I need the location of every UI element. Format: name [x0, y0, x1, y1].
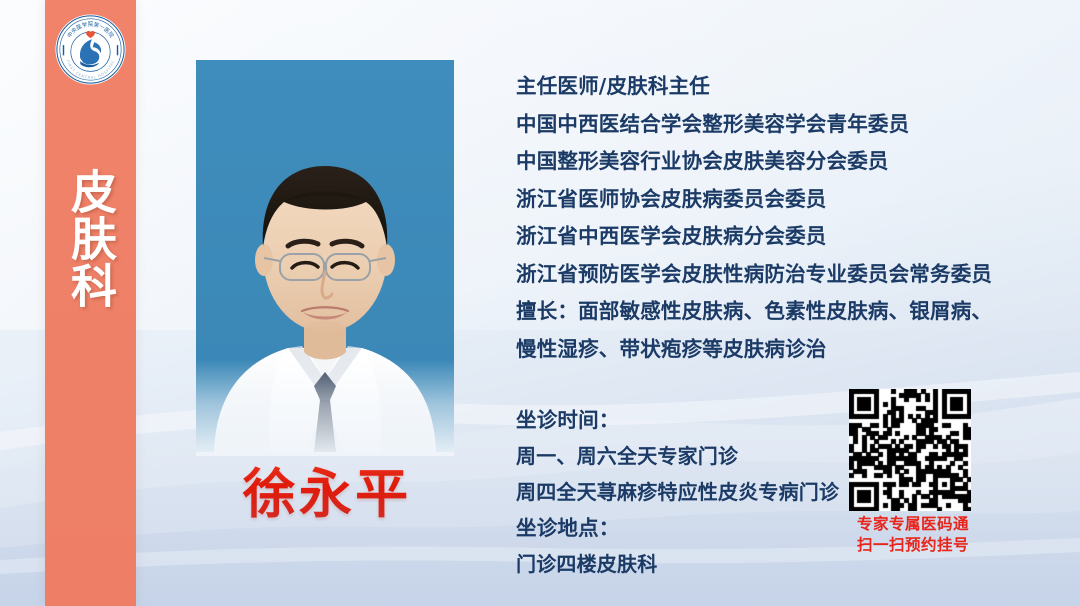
qr-caption: 专家专属医码通 扫一扫预约挂号: [843, 514, 983, 556]
department-name: 皮肤科: [53, 168, 128, 309]
credential-line: 浙江省中西医学会皮肤病分会委员: [516, 218, 1046, 256]
credential-line: 浙江省预防医学会皮肤性病防治专业委员会常务委员: [516, 256, 1046, 294]
qr-caption-line-2: 扫一扫预约挂号: [843, 535, 983, 556]
qr-caption-line-1: 专家专属医码通: [843, 514, 983, 535]
department-banner-title: 皮肤科: [45, 168, 136, 408]
specialty-line: 慢性湿疹、带状疱疹等皮肤病诊治: [516, 331, 1046, 369]
doctor-profile-poster: 皮肤科 中央医学院第一医院 FIRST CENTRAL HOSPITAL: [0, 0, 1080, 606]
appointment-qr-code[interactable]: [849, 389, 971, 511]
specialty-line: 擅长：面部敏感性皮肤病、色素性皮肤病、银屑病、: [516, 293, 1046, 331]
doctor-name: 徐永平: [196, 452, 458, 528]
credential-line: 主任医师/皮肤科主任: [516, 68, 1046, 106]
credentials-list: 主任医师/皮肤科主任 中国中西医结合学会整形美容学会青年委员 中国整形美容行业协…: [516, 68, 1046, 368]
credential-line: 中国整形美容行业协会皮肤美容分会委员: [516, 143, 1046, 181]
doctor-photo: [196, 60, 454, 452]
credential-line: 中国中西医结合学会整形美容学会青年委员: [516, 106, 1046, 144]
credential-line: 浙江省医师协会皮肤病委员会委员: [516, 181, 1046, 219]
hospital-logo-icon: 中央医学院第一医院 FIRST CENTRAL HOSPITAL: [54, 13, 127, 86]
qr-code-image[interactable]: [849, 389, 971, 511]
